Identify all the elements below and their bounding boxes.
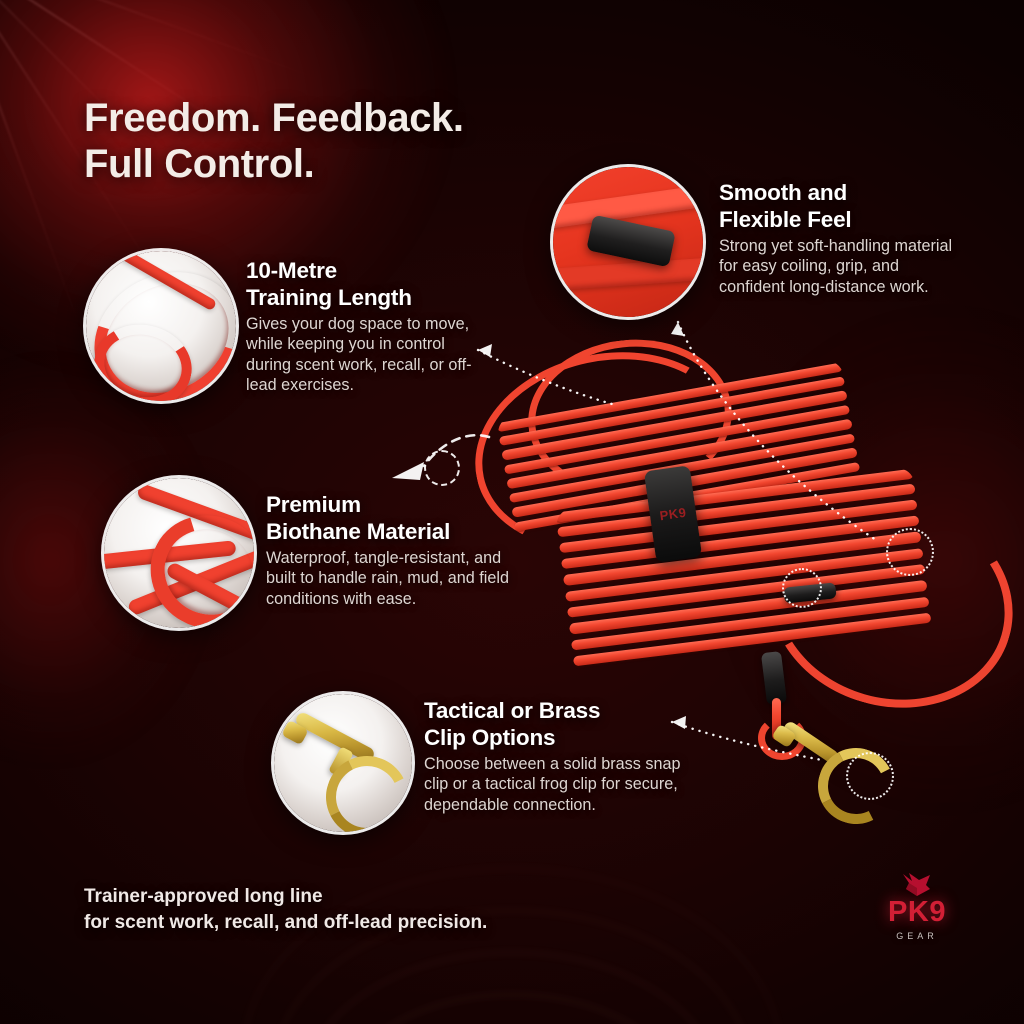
headline-line-1: Freedom. Feedback. [84, 96, 704, 142]
feature-clip-options: Tactical or Brass Clip Options Choose be… [424, 698, 686, 815]
feature-smooth-feel: Smooth and Flexible Feel Strong yet soft… [719, 180, 963, 297]
footer-tagline-line-2: for scent work, recall, and off-lead pre… [84, 910, 644, 936]
product-infographic: Freedom. Feedback. Full Control. [0, 0, 1024, 1024]
feature-title-biothane: Premium Biothane Material [266, 492, 524, 545]
light-ray [0, 0, 366, 2]
brand-subtext: GEAR [862, 931, 972, 941]
feature-training-length: 10-Metre Training Length Gives your dog … [246, 258, 492, 395]
feature-inset-clip-options [274, 694, 412, 832]
footer-tagline: Trainer-approved long line for scent wor… [84, 884, 644, 935]
feature-title-clip-options: Tactical or Brass Clip Options [424, 698, 686, 751]
feature-title-training-length: 10-Metre Training Length [246, 258, 492, 311]
cord-sleeve-lower [761, 651, 787, 705]
feature-body-smooth-feel: Strong yet soft-handling material for ea… [719, 236, 963, 297]
feature-title-smooth-feel: Smooth and Flexible Feel [719, 180, 963, 233]
brand-wordmark: PK9 [862, 898, 972, 927]
feature-inset-smooth-feel [553, 167, 703, 317]
feature-body-biothane: Waterproof, tangle-resistant, and built … [266, 548, 524, 609]
target-ring-biothane [424, 450, 460, 486]
feature-inset-training-length [86, 251, 236, 401]
feature-biothane: Premium Biothane Material Waterproof, ta… [266, 492, 524, 609]
brand-logo: PK9 GEAR [862, 872, 972, 952]
target-ring-clip [846, 752, 894, 800]
feature-body-training-length: Gives your dog space to move, while keep… [246, 314, 492, 395]
shepherd-head-logo-icon [862, 872, 972, 898]
feature-body-clip-options: Choose between a solid brass snap clip o… [424, 754, 686, 815]
feature-inset-biothane [104, 478, 254, 628]
strap-logo-text: PK9 [649, 503, 697, 524]
footer-tagline-line-1: Trainer-approved long line [84, 884, 644, 910]
target-ring-smooth-feel [886, 528, 934, 576]
target-ring-sleeve [782, 568, 822, 608]
